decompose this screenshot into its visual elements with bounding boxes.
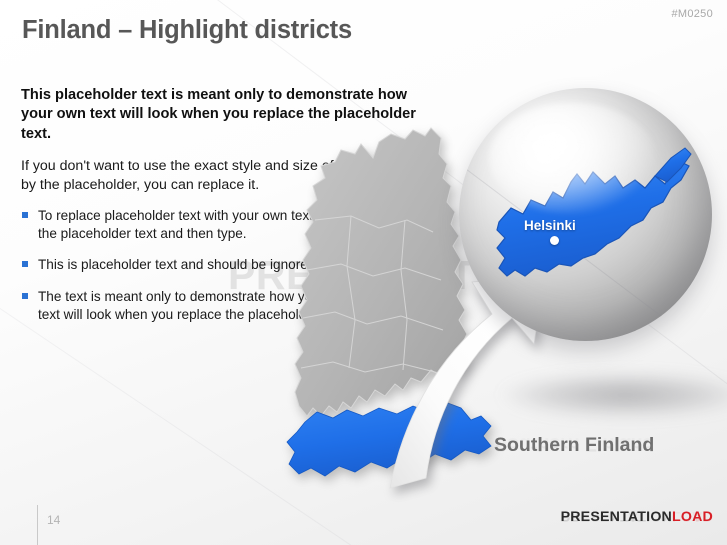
page-number: 14 [47, 513, 60, 527]
district-caption-reflection: Southern Finland [494, 432, 654, 455]
magnifier-sphere[interactable] [459, 88, 712, 341]
page-title: Finland – Highlight districts [22, 16, 352, 45]
slide-id-label: #M0250 [671, 8, 713, 20]
sphere-gloss-highlight [489, 103, 656, 214]
bullet-square-icon [22, 261, 28, 267]
logo-reflection-text-red: LOAD [672, 508, 713, 524]
city-marker-dot-icon [550, 236, 559, 245]
bullet-square-icon [22, 212, 28, 218]
logo-reflection-text-dark: PRESENTATION [561, 508, 672, 524]
presentationload-logo-reflection: PRESENTATIONLOAD [561, 508, 713, 524]
sphere-drop-shadow [500, 372, 727, 418]
bullet-square-icon [22, 293, 28, 299]
footer-divider [37, 505, 38, 545]
slide: Finland – Highlight districts #M0250 PRE… [0, 0, 727, 545]
city-label-helsinki: Helsinki [524, 218, 576, 233]
